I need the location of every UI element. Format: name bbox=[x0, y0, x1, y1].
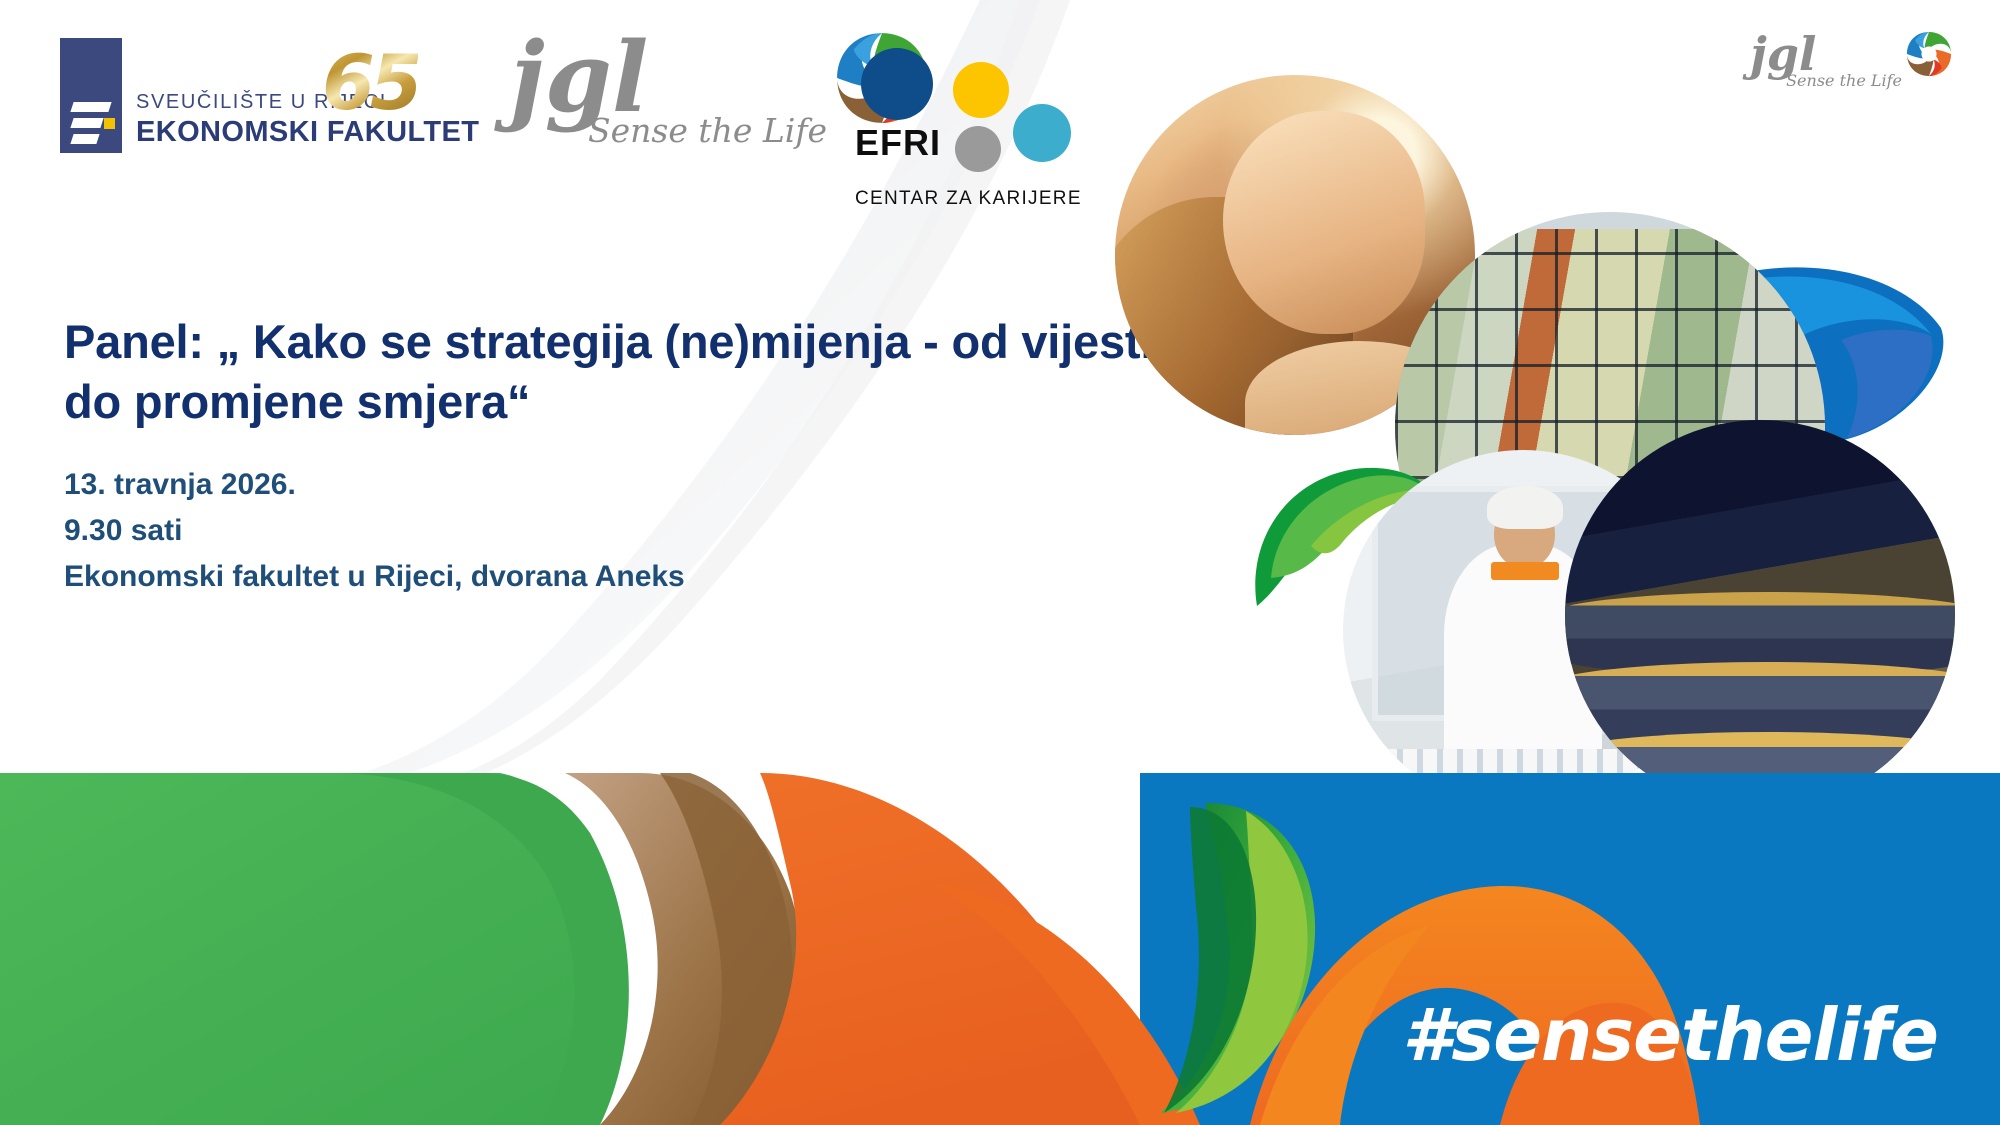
jgl-wordmark: jgl bbox=[510, 40, 827, 117]
anniversary-badge: 65 bbox=[322, 38, 418, 127]
photo-collage bbox=[1095, 60, 1955, 800]
hashtag: #sensethelife bbox=[1402, 993, 1938, 1077]
dot-yellow-icon bbox=[953, 62, 1009, 118]
presentation-slide: SVEUČILIŠTE U RIJECI EKONOMSKI FAKULTET … bbox=[0, 0, 2000, 1125]
photo-night-facility bbox=[1565, 420, 1955, 810]
event-date: 13. travnja 2026. bbox=[64, 462, 685, 508]
efri-emblem-icon bbox=[60, 38, 122, 153]
dot-teal-icon bbox=[1013, 104, 1071, 162]
university-name: SVEUČILIŠTE U RIJECI bbox=[136, 91, 479, 114]
bottom-banner: #sensethelife bbox=[0, 773, 2000, 1125]
career-centre-acronym: EFRI bbox=[855, 122, 941, 164]
event-venue: Ekonomski fakultet u Rijeci, dvorana Ane… bbox=[64, 554, 685, 600]
event-details: 13. travnja 2026. 9.30 sati Ekonomski fa… bbox=[64, 462, 685, 600]
event-time: 9.30 sati bbox=[64, 508, 685, 554]
career-centre-subtitle: CENTAR ZA KARIJERE bbox=[855, 188, 1082, 210]
dot-blue-icon bbox=[861, 48, 933, 120]
career-centre-logo: EFRI CENTAR ZA KARIJERE bbox=[855, 48, 1070, 163]
page-title: Panel: „ Kako se strategija (ne)mijenja … bbox=[64, 312, 1154, 432]
faculty-name: EKONOMSKI FAKULTET bbox=[136, 116, 479, 149]
jgl-tagline: Sense the Life bbox=[588, 111, 827, 150]
dot-gray-icon bbox=[955, 126, 1001, 172]
